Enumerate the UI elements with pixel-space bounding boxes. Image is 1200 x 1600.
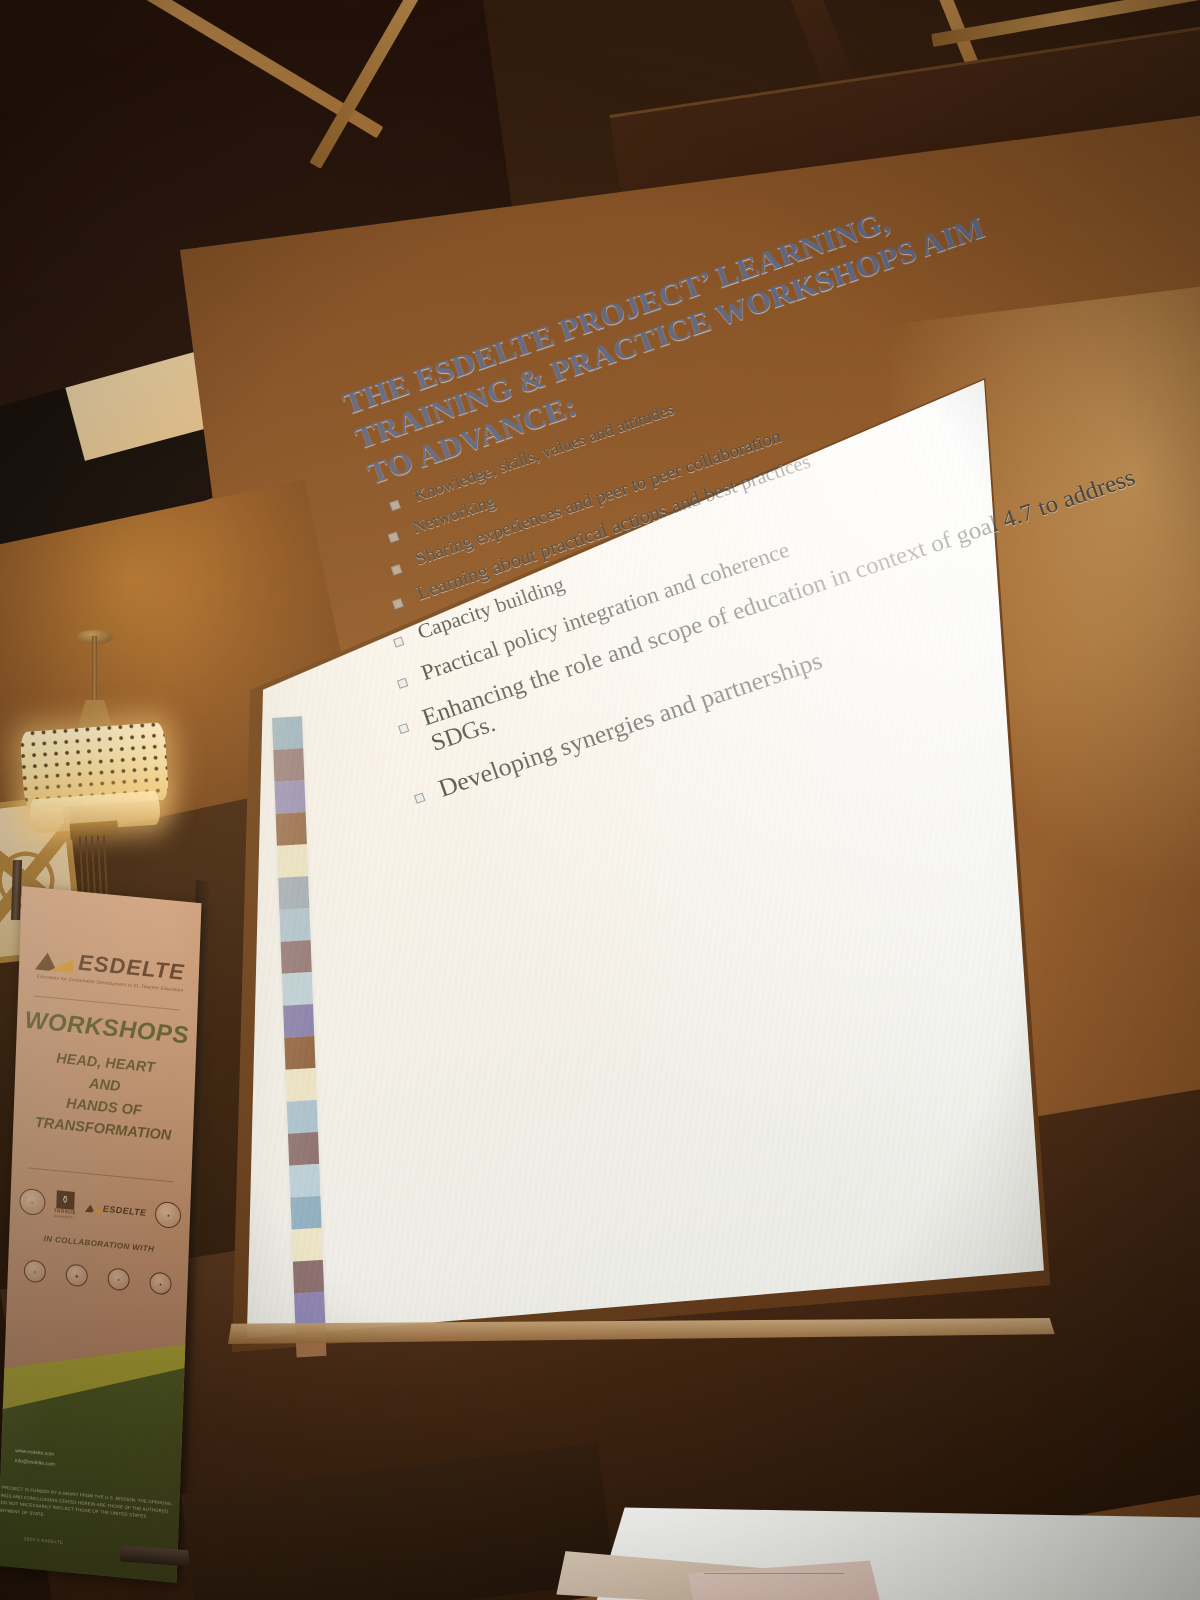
- mosaic-tile: [279, 908, 310, 942]
- banner-contact: www.esdelte.com info@esdelte.com: [15, 1447, 56, 1470]
- mountain-mark-icon: [35, 947, 74, 973]
- mosaic-tile: [293, 1260, 324, 1294]
- unesco-seal-icon: ☺: [19, 1188, 46, 1216]
- banner-partner-logos: ☺ ⚱ TARSUS UNIVERSITY ESDELTE ★: [10, 1186, 191, 1231]
- collaborator-seal-4-icon: ▲: [149, 1271, 172, 1295]
- square-outline-bullet-icon: [392, 599, 403, 610]
- mosaic-tile: [288, 1132, 319, 1166]
- square-outline-bullet-icon: [414, 793, 425, 804]
- mosaic-tile: [278, 876, 309, 910]
- mosaic-tile: [287, 1100, 318, 1134]
- square-outline-bullet-icon: [398, 723, 409, 734]
- square-outline-bullet-icon: [397, 677, 408, 688]
- mosaic-tile: [272, 716, 303, 750]
- tarsus-university-logo: ⚱ TARSUS UNIVERSITY: [53, 1190, 76, 1220]
- mosaic-tile: [276, 812, 307, 846]
- mosaic-tile: [286, 1068, 317, 1102]
- square-outline-bullet-icon: [389, 500, 400, 511]
- mosaic-tile: [283, 1004, 314, 1038]
- rollup-banner: ESDELTE Education for Sustainable Develo…: [0, 886, 201, 1583]
- mosaic-tile: [277, 844, 308, 878]
- banner-collaboration-label: IN COLLABORATION WITH: [9, 1231, 189, 1257]
- mosaic-tile: [290, 1196, 321, 1230]
- square-outline-bullet-icon: [388, 532, 399, 543]
- mosaic-tile: [292, 1228, 323, 1262]
- mountain-mark-icon: [85, 1202, 101, 1214]
- divider: [34, 995, 180, 1010]
- collaborator-seal-1-icon: ◎: [24, 1259, 47, 1283]
- esdelte-logo: ESDELTE: [85, 1202, 147, 1218]
- square-outline-bullet-icon: [393, 636, 404, 647]
- collaborator-seal-3-icon: ✦: [107, 1267, 130, 1291]
- tarsus-mark-icon: ⚱: [56, 1190, 75, 1210]
- square-outline-bullet-icon: [391, 564, 402, 575]
- mosaic-tile: [274, 780, 305, 814]
- mosaic-tile: [284, 1036, 315, 1070]
- mosaic-tile: [294, 1292, 325, 1326]
- divider: [28, 1167, 174, 1182]
- collaborator-seal-2-icon: ◉: [65, 1263, 88, 1287]
- mosaic-tile: [273, 748, 304, 782]
- conference-room-photo: THE ESDELTE PROJECT’ LEARNING, TRAINING …: [0, 0, 1200, 1600]
- mosaic-tile: [289, 1164, 320, 1198]
- mosaic-tile: [281, 940, 312, 974]
- banner-heading: WORKSHOPS: [17, 1006, 198, 1051]
- mosaic-tile: [282, 972, 313, 1006]
- banner-collaborator-logos: ◎ ◉ ✦ ▲: [8, 1258, 188, 1297]
- us-department-of-state-seal-icon: ★: [155, 1201, 182, 1229]
